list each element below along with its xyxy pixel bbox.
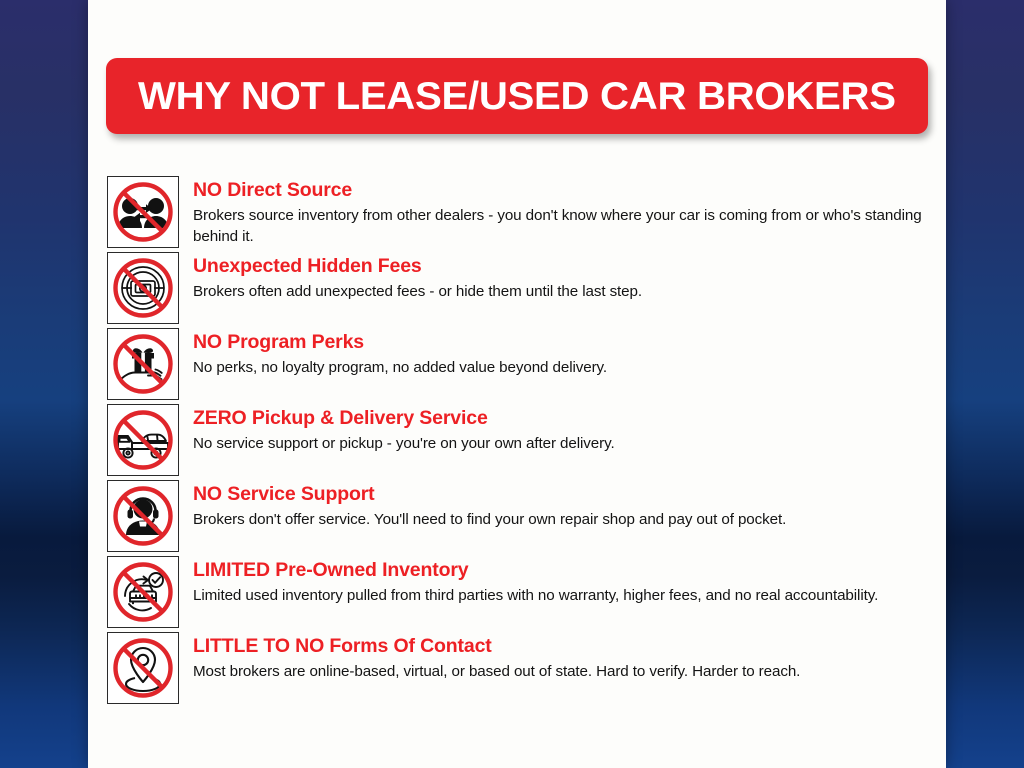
list-item-heading: ZERO Pickup & Delivery Service — [193, 408, 937, 430]
title-banner: WHY NOT LEASE/USED CAR BROKERS — [106, 58, 928, 134]
list-item-description: No perks, no loyalty program, no added v… — [193, 357, 937, 379]
list-item-text: NO Service Support Brokers don't offer s… — [179, 480, 937, 530]
no-tow-truck-delivery-icon — [107, 404, 179, 476]
list-item-description: Brokers often add unexpected fees - or h… — [193, 281, 937, 303]
no-certified-inventory-icon — [107, 556, 179, 628]
slide-root: WHY NOT LEASE/USED CAR BROKERS — [0, 0, 1024, 768]
list-item-heading: Unexpected Hidden Fees — [193, 256, 937, 278]
no-headset-support-icon — [107, 480, 179, 552]
list-item: LITTLE TO NO Forms Of Contact Most broke… — [107, 632, 937, 704]
list-item-description: Limited used inventory pulled from third… — [193, 585, 937, 607]
list-item-description: Brokers source inventory from other deal… — [193, 205, 937, 248]
list-item-text: NO Program Perks No perks, no loyalty pr… — [179, 328, 937, 378]
list-item-description: Brokers don't offer service. You'll need… — [193, 509, 937, 531]
list-item: Unexpected Hidden Fees Brokers often add… — [107, 252, 937, 324]
list-item: NO Service Support Brokers don't offer s… — [107, 480, 937, 552]
list-item-text: LIMITED Pre-Owned Inventory Limited used… — [179, 556, 937, 606]
list-item: LIMITED Pre-Owned Inventory Limited used… — [107, 556, 937, 628]
list-item: ZERO Pickup & Delivery Service No servic… — [107, 404, 937, 476]
no-hidden-fees-icon — [107, 252, 179, 324]
list-item-text: Unexpected Hidden Fees Brokers often add… — [179, 252, 937, 302]
list-item-text: ZERO Pickup & Delivery Service No servic… — [179, 404, 937, 454]
list-item-text: NO Direct Source Brokers source inventor… — [179, 176, 937, 248]
reasons-list: NO Direct Source Brokers source inventor… — [107, 176, 937, 708]
no-direct-source-icon — [107, 176, 179, 248]
list-item: NO Direct Source Brokers source inventor… — [107, 176, 937, 248]
content-card: WHY NOT LEASE/USED CAR BROKERS — [88, 0, 946, 768]
list-item-description: No service support or pickup - you're on… — [193, 433, 937, 455]
list-item-text: LITTLE TO NO Forms Of Contact Most broke… — [179, 632, 937, 682]
list-item-heading: LITTLE TO NO Forms Of Contact — [193, 636, 937, 658]
list-item-heading: NO Service Support — [193, 484, 937, 506]
list-item-heading: LIMITED Pre-Owned Inventory — [193, 560, 937, 582]
list-item: NO Program Perks No perks, no loyalty pr… — [107, 328, 937, 400]
list-item-heading: NO Program Perks — [193, 332, 937, 354]
no-gift-perks-icon — [107, 328, 179, 400]
list-item-description: Most brokers are online-based, virtual, … — [193, 661, 937, 683]
list-item-heading: NO Direct Source — [193, 180, 937, 202]
page-title: WHY NOT LEASE/USED CAR BROKERS — [138, 77, 896, 116]
no-location-pin-icon — [107, 632, 179, 704]
